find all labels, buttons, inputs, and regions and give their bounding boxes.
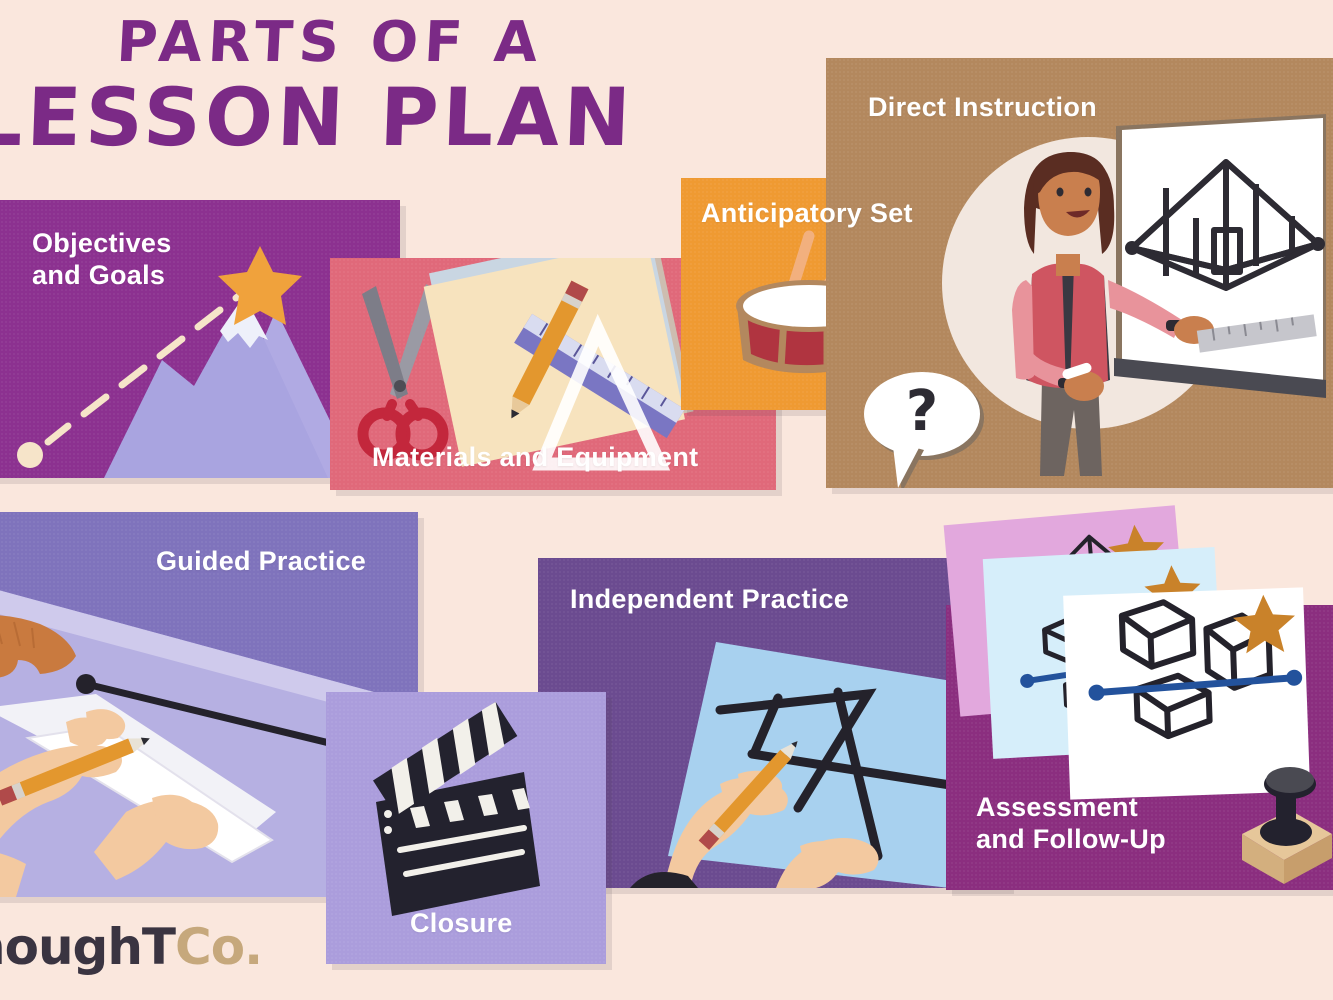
panel-label-independent: Independent Practice	[570, 584, 849, 616]
page-title: PARTS OF A LESSON PLAN	[0, 10, 640, 164]
panel-closure[interactable]: Closure	[326, 692, 606, 964]
logo-text-accent: Co.	[175, 918, 262, 976]
panel-independent-practice[interactable]: Independent Practice	[538, 558, 1008, 888]
panel-label-objectives: Objectives and Goals	[32, 228, 172, 292]
thoughtco-logo: houghTCo.	[0, 918, 262, 976]
panel-label-closure: Closure	[410, 908, 513, 940]
speech-bubble-question-mark: ?	[906, 379, 938, 444]
panel-label-anticipatory: Anticipatory Set	[701, 198, 913, 230]
panel-label-materials: Materials and Equipment	[372, 442, 698, 474]
logo-text-dark: houghT	[0, 918, 175, 976]
panel-label-guided: Guided Practice	[156, 546, 366, 578]
title-line-1: PARTS OF A	[18, 10, 641, 75]
panel-direct-instruction[interactable]: ? Direct Instruction	[826, 58, 1333, 488]
rubber-stamp-icon	[1228, 748, 1333, 888]
panel-label-assessment: Assessment and Follow-Up	[976, 792, 1166, 856]
title-line-2: LESSON PLAN	[0, 71, 642, 164]
infographic-canvas: PARTS OF A LESSON PLAN	[0, 0, 1333, 1000]
panel-label-direct: Direct Instruction	[868, 92, 1097, 124]
